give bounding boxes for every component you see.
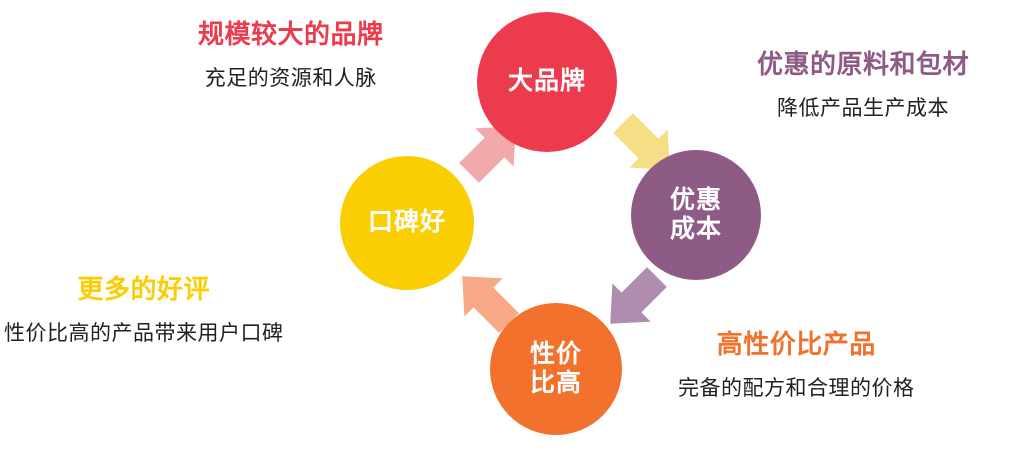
label-brand-title: 规模较大的品牌 <box>198 20 384 49</box>
label-material-subtitle: 降低产品生产成本 <box>757 97 969 120</box>
node-value-line-1: 性价 <box>530 340 582 370</box>
node-brand-line-1: 大品牌 <box>508 67 586 97</box>
label-brand-subtitle: 充足的资源和人脉 <box>198 67 384 90</box>
label-value: 高性价比产品 完备的配方和合理的价格 <box>678 330 915 400</box>
label-value-title: 高性价比产品 <box>678 330 915 359</box>
label-material-title: 优惠的原料和包材 <box>757 50 969 79</box>
label-reputation: 更多的好评 性价比高的产品带来用户口碑 <box>4 275 284 345</box>
label-value-subtitle: 完备的配方和合理的价格 <box>678 377 915 400</box>
node-reputation[interactable]: 口碑好 <box>340 156 474 290</box>
node-cost[interactable]: 优惠 成本 <box>631 150 761 280</box>
node-value-line-2: 比高 <box>530 369 582 399</box>
cycle-diagram: 大品牌 优惠 成本 性价 比高 口碑好 规模较大的品牌 充足的资源和人脉 优惠的… <box>0 0 1011 452</box>
label-reputation-title: 更多的好评 <box>4 275 284 304</box>
label-material: 优惠的原料和包材 降低产品生产成本 <box>757 50 969 120</box>
label-reputation-subtitle: 性价比高的产品带来用户口碑 <box>4 322 284 345</box>
node-brand[interactable]: 大品牌 <box>477 12 617 152</box>
node-cost-line-1: 优惠 <box>670 186 722 216</box>
node-reputation-line-1: 口碑好 <box>368 208 446 238</box>
node-value[interactable]: 性价 比高 <box>490 303 622 435</box>
label-brand: 规模较大的品牌 充足的资源和人脉 <box>198 20 384 90</box>
node-cost-line-2: 成本 <box>670 215 722 245</box>
